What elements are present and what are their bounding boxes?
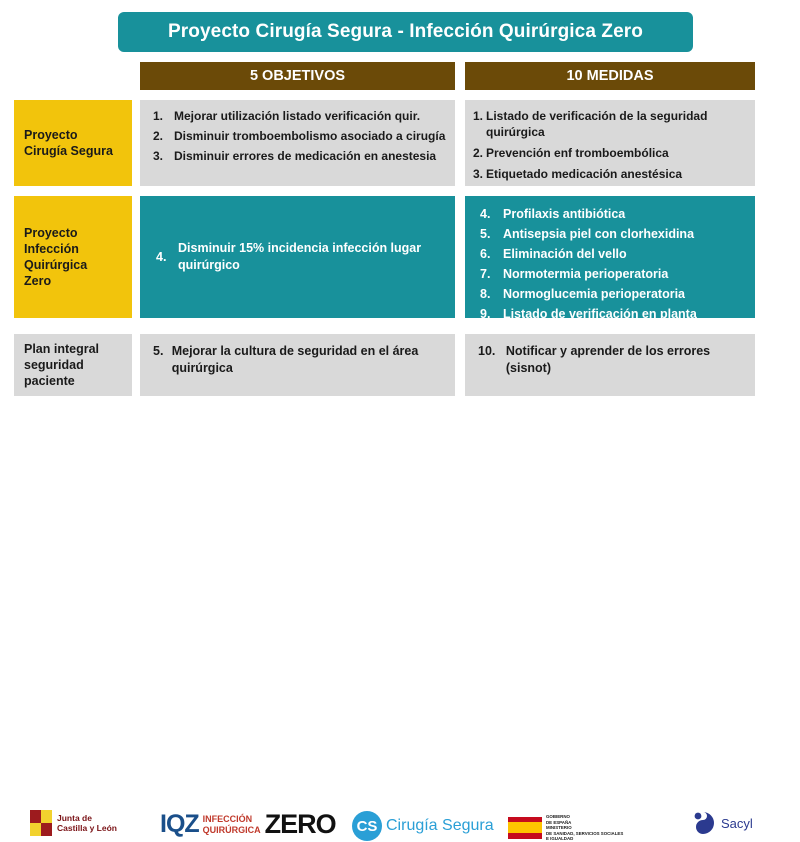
item-text: Mejorar la cultura de seguridad en el ár… [172, 343, 449, 377]
row-label-cirugia-segura: Proyecto Cirugía Segura [14, 100, 132, 186]
logo-cs-text: Cirugía Segura [386, 817, 494, 835]
logo-iqz-sub-line1: INFECCIÓN [203, 814, 261, 825]
list-item: 6. Eliminación del vello [473, 246, 749, 262]
footer-logos: Junta de Castilla y León IQZ INFECCIÓN Q… [0, 404, 800, 450]
item-text: Mejorar utilización listado verificación… [174, 108, 449, 124]
item-number: 2. [148, 128, 174, 144]
item-number: 6. [473, 246, 503, 262]
list-item: 2. Disminuir tromboembolismo asociado a … [148, 128, 449, 144]
item-text: Etiquetado medicación anestésica [486, 166, 749, 182]
item-number: 4. [148, 249, 178, 266]
item-number: 10. [473, 343, 506, 377]
medidas-list-2: 4. Profilaxis antibiótica 5. Antisepsia … [473, 206, 749, 322]
list-item: 5. Antisepsia piel con clorhexidina [473, 226, 749, 242]
row-label-plan-line2: seguridad [24, 357, 99, 373]
list-item: 10. Notificar y aprender de los errores … [473, 343, 749, 377]
item-text: Disminuir 15% incidencia infección lugar… [178, 240, 441, 274]
item-number: 7. [473, 266, 503, 282]
item-number: 9. [473, 306, 503, 322]
list-item: 2. Prevención enf tromboembólica [473, 145, 749, 161]
item-number: 3. [148, 148, 174, 164]
logo-junta-line1: Junta de [57, 813, 117, 823]
row-label-iqz-line3: Quirúrgica [24, 257, 87, 273]
list-item: 9. Listado de verificación en planta [473, 306, 749, 322]
logo-cirugia-segura: CS Cirugía Segura [352, 811, 494, 841]
column-header-objetivos: 5 OBJETIVOS [140, 62, 455, 90]
list-item: 1. Mejorar utilización listado verificac… [148, 108, 449, 124]
row-label-plan-integral: Plan integral seguridad paciente [14, 334, 132, 396]
row-label-iqz-line2: Infección [24, 241, 87, 257]
row-label-cirugia-segura-line2: Cirugía Segura [24, 143, 113, 159]
item-number: 8. [473, 286, 503, 302]
medidas-box-1: 1. Listado de verificación de la segurid… [465, 100, 755, 186]
item-number: 1. [473, 108, 486, 140]
sacyl-mark-icon [690, 810, 716, 836]
item-text: Prevención enf tromboembólica [486, 145, 749, 161]
item-number: 5. [148, 343, 172, 377]
item-text: Listado de verificación en planta [503, 306, 749, 322]
logo-sacyl: Sacyl [690, 810, 753, 836]
row-label-infeccion-quirurgica-zero: Proyecto Infección Quirúrgica Zero [14, 196, 132, 318]
logo-iqz-initials: IQZ [160, 810, 199, 839]
row-label-iqz-line4: Zero [24, 273, 87, 289]
item-number: 4. [473, 206, 503, 222]
item-number: 2. [473, 145, 486, 161]
slide-root: Proyecto Cirugía Segura - Infección Quir… [0, 0, 800, 450]
item-number: 5. [473, 226, 503, 242]
item-text: Disminuir errores de medicación en anest… [174, 148, 449, 164]
item-text: Normotermia perioperatoria [503, 266, 749, 282]
logo-iqz-sub-line2: QUIRÚRGICA [203, 825, 261, 836]
list-item: 4. Disminuir 15% incidencia infección lu… [140, 196, 455, 318]
item-text: Listado de verificación de la seguridad … [486, 108, 749, 140]
logo-ministerio-text: GOBIERNO DE ESPAÑA MINISTERIO DE SANIDAD… [546, 814, 623, 842]
list-item: 3. Disminuir errores de medicación en an… [148, 148, 449, 164]
list-item: 8. Normoglucemia perioperatoria [473, 286, 749, 302]
logo-junta-text: Junta de Castilla y León [57, 813, 117, 833]
logo-junta-castilla-leon: Junta de Castilla y León [30, 810, 117, 836]
row-label-plan-line3: paciente [24, 373, 99, 389]
item-number: 3. [473, 166, 486, 182]
logo-junta-line2: Castilla y León [57, 823, 117, 833]
logo-iqz: IQZ INFECCIÓN QUIRÚRGICA ZERO [160, 809, 336, 840]
logo-ministerio-sanidad: GOBIERNO DE ESPAÑA MINISTERIO DE SANIDAD… [508, 814, 623, 842]
logo-iqz-zero: ZERO [265, 809, 336, 840]
row-label-plan-line1: Plan integral [24, 341, 99, 357]
logo-ministerio-line5: E IGUALDAD [546, 836, 623, 842]
item-text: Eliminación del vello [503, 246, 749, 262]
row-label-cirugia-segura-line1: Proyecto [24, 127, 113, 143]
logo-sacyl-text: Sacyl [721, 816, 753, 831]
list-item: 1. Listado de verificación de la segurid… [473, 108, 749, 140]
list-item: 4. Profilaxis antibiótica [473, 206, 749, 222]
shield-icon [30, 810, 52, 836]
list-item: 7. Normotermia perioperatoria [473, 266, 749, 282]
item-text: Profilaxis antibiótica [503, 206, 749, 222]
item-text: Notificar y aprender de los errores (sis… [506, 343, 749, 377]
page-title: Proyecto Cirugía Segura - Infección Quir… [118, 12, 693, 52]
row-label-iqz-line1: Proyecto [24, 225, 87, 241]
item-text: Antisepsia piel con clorhexidina [503, 226, 749, 242]
medidas-box-2: 4. Profilaxis antibiótica 5. Antisepsia … [465, 196, 755, 318]
list-item: 5. Mejorar la cultura de seguridad en el… [148, 343, 449, 377]
item-number: 1. [148, 108, 174, 124]
objetivos-box-1: 1. Mejorar utilización listado verificac… [140, 100, 455, 186]
logo-iqz-subtext: INFECCIÓN QUIRÚRGICA [203, 814, 261, 836]
objetivos-box-2: 4. Disminuir 15% incidencia infección lu… [140, 196, 455, 318]
item-text: Normoglucemia perioperatoria [503, 286, 749, 302]
spain-flag-icon [508, 817, 542, 839]
objetivos-list-1: 1. Mejorar utilización listado verificac… [148, 108, 449, 164]
medidas-box-3: 10. Notificar y aprender de los errores … [465, 334, 755, 396]
list-item: 3. Etiquetado medicación anestésica [473, 166, 749, 182]
column-header-medidas: 10 MEDIDAS [465, 62, 755, 90]
medidas-list-1: 1. Listado de verificación de la segurid… [473, 108, 749, 182]
objetivos-box-3: 5. Mejorar la cultura de seguridad en el… [140, 334, 455, 396]
item-text: Disminuir tromboembolismo asociado a cir… [174, 128, 449, 144]
logo-cs-mark: CS [352, 811, 382, 841]
